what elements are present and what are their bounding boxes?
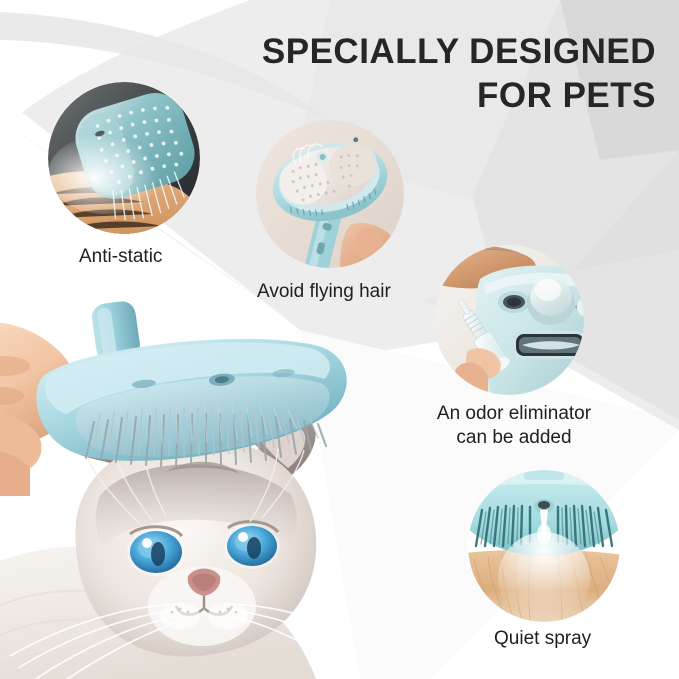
page-title-line-1: SPECIALLY DESIGNED <box>238 30 656 74</box>
page-title-line-2: FOR PETS <box>238 74 656 118</box>
feature-caption-anti-static: Anti-static <box>79 245 162 269</box>
page-title: SPECIALLY DESIGNED FOR PETS <box>238 30 656 118</box>
feature-image-anti-static <box>48 82 200 234</box>
feature-image-odor-eliminator <box>434 245 584 395</box>
infographic-canvas: SPECIALLY DESIGNED FOR PETS <box>0 0 679 679</box>
feature-caption-avoid-flying-hair: Avoid flying hair <box>257 280 391 304</box>
hero-hand-holding-brush <box>0 296 406 526</box>
feature-caption-quiet-spray: Quiet spray <box>494 627 591 651</box>
feature-image-quiet-spray <box>468 470 620 622</box>
feature-caption-odor-eliminator: An odor eliminator can be added <box>424 402 604 450</box>
feature-image-avoid-flying-hair <box>256 120 404 268</box>
